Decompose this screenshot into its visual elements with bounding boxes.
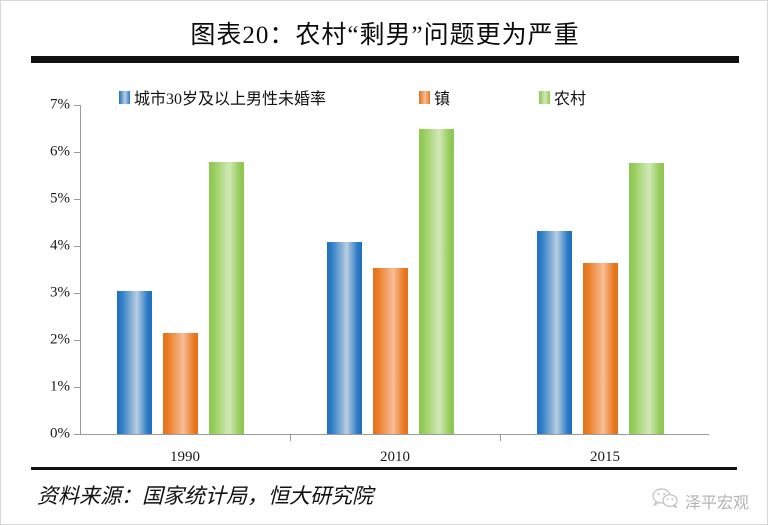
legend-swatch-rural — [539, 91, 550, 104]
bar-city-1990[interactable] — [117, 291, 152, 434]
title-divider — [31, 56, 739, 63]
chart-page: 图表20：农村“剩男”问题更为严重 城市30岁及以上男性未婚率 镇 农村 0% … — [0, 0, 768, 525]
watermark: 泽平宏观 — [652, 488, 749, 513]
y-tick-3 — [74, 293, 80, 294]
y-tick-6 — [74, 152, 80, 153]
bar-city-2015[interactable] — [537, 231, 572, 435]
y-tick-label-3: 3% — [50, 285, 70, 302]
bar-rural-2010[interactable] — [419, 129, 454, 434]
y-axis-line — [80, 105, 81, 435]
x-tick-separator-1 — [290, 434, 291, 441]
title-area: 图表20：农村“剩男”问题更为严重 — [1, 1, 768, 59]
x-axis-line — [80, 434, 709, 435]
bar-town-2015[interactable] — [583, 263, 618, 434]
legend-swatch-town — [419, 91, 430, 104]
page-title: 图表20：农村“剩男”问题更为严重 — [1, 15, 768, 51]
y-tick-5 — [74, 199, 80, 200]
y-tick-7 — [74, 105, 80, 106]
source-note: 资料来源：国家统计局，恒大研究院 — [37, 480, 373, 510]
y-tick-label-2: 2% — [50, 332, 70, 349]
x-tick-label-2010: 2010 — [380, 449, 410, 466]
bar-rural-1990[interactable] — [209, 162, 244, 434]
y-tick-label-6: 6% — [50, 144, 70, 161]
y-tick-0 — [74, 434, 80, 435]
x-tick-separator-2 — [500, 434, 501, 441]
y-tick-label-5: 5% — [50, 191, 70, 208]
bar-town-1990[interactable] — [163, 333, 198, 434]
plot-area: 0% 1% 2% 3% 4% 5% 6% 7% 1990 2010 2015 — [80, 105, 709, 434]
y-tick-2 — [74, 340, 80, 341]
y-tick-4 — [74, 246, 80, 247]
watermark-label: 泽平宏观 — [685, 489, 749, 513]
legend-swatch-city — [119, 91, 130, 104]
chart-legend: 城市30岁及以上男性未婚率 镇 农村 — [119, 85, 679, 107]
y-tick-label-7: 7% — [50, 97, 70, 114]
x-tick-label-1990: 1990 — [170, 449, 200, 466]
y-tick-label-4: 4% — [50, 238, 70, 255]
y-tick-label-1: 1% — [50, 379, 70, 396]
y-tick-1 — [74, 387, 80, 388]
footer-divider — [31, 467, 737, 470]
bar-rural-2015[interactable] — [629, 163, 664, 434]
bar-city-2010[interactable] — [327, 242, 362, 434]
x-tick-label-2015: 2015 — [590, 449, 620, 466]
y-tick-label-0: 0% — [50, 426, 70, 443]
bar-town-2010[interactable] — [373, 268, 408, 434]
wechat-icon — [652, 488, 678, 513]
